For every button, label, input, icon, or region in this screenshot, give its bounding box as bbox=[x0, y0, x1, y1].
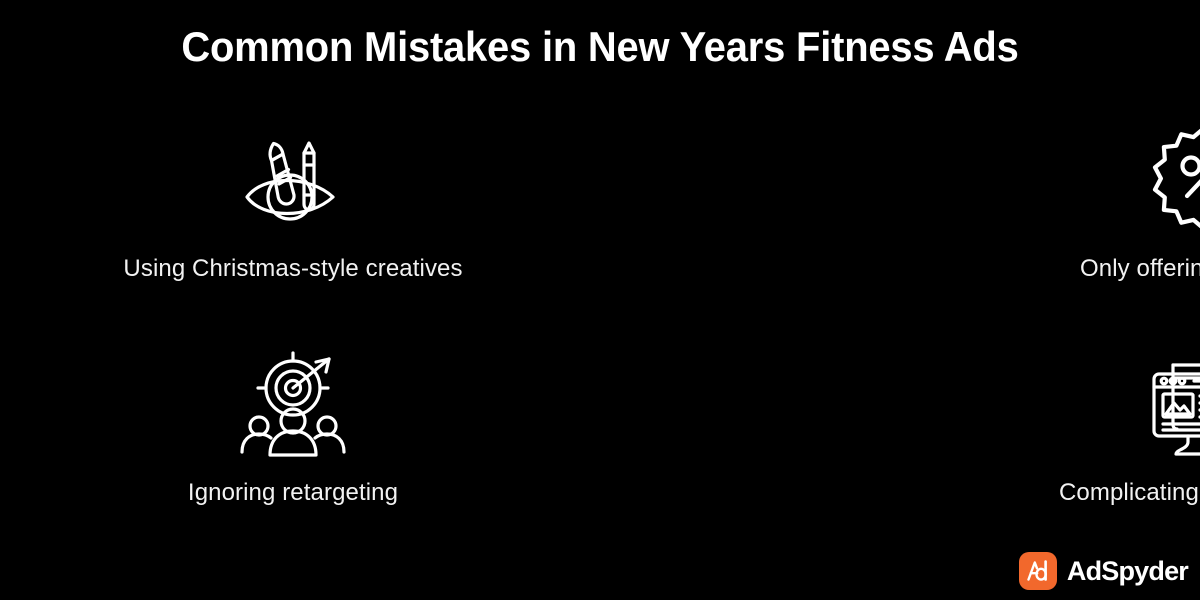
mistake-card-4: Complicating sign-up flows bbox=[903, 332, 1200, 542]
target-audience-icon bbox=[234, 342, 352, 460]
mistake-card-1: Using Christmas-style creatives bbox=[0, 108, 593, 318]
eye-creative-icon bbox=[234, 118, 352, 236]
adspyder-mark-icon bbox=[1019, 552, 1057, 590]
monitor-landing-page-icon bbox=[1144, 342, 1200, 460]
brand-name: AdSpyder bbox=[1067, 556, 1188, 586]
mistake-card-3: Ignoring retargeting bbox=[0, 332, 593, 542]
discount-badge-percent-icon bbox=[1144, 118, 1200, 236]
page-title: Common Mistakes in New Years Fitness Ads bbox=[30, 22, 1170, 72]
brand-logo: AdSpyder bbox=[1019, 552, 1188, 590]
mistakes-grid: Using Christmas-style creatives Only off… bbox=[0, 108, 1200, 528]
mistake-label-3: Ignoring retargeting bbox=[188, 478, 398, 508]
mistake-label-2: Only offering discounts bbox=[1080, 254, 1200, 284]
poster-canvas: Common Mistakes in New Years Fitness Ads bbox=[0, 0, 1200, 600]
mistake-card-2: Only offering discounts bbox=[903, 108, 1200, 318]
mistake-label-4: Complicating sign-up flows bbox=[1059, 478, 1200, 508]
mistake-label-1: Using Christmas-style creatives bbox=[123, 254, 462, 284]
